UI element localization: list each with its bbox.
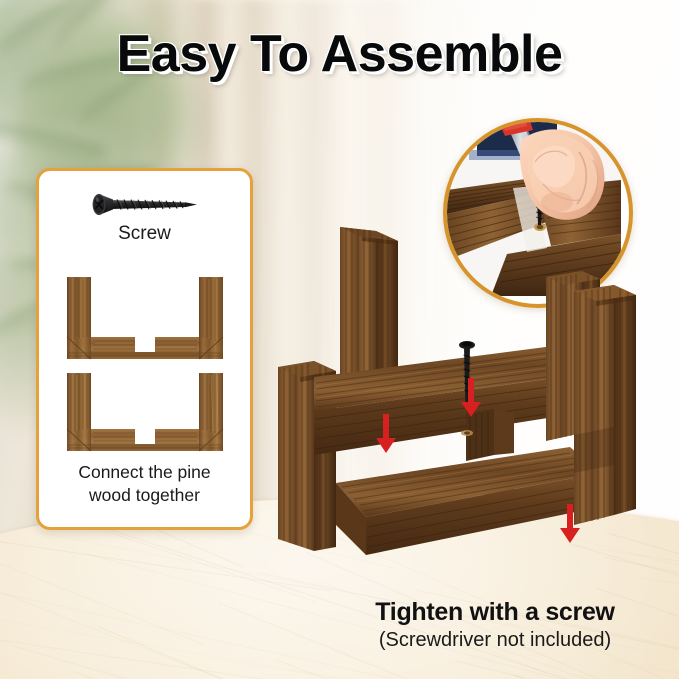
parts-card-caption: Connect the pine wood together (45, 461, 244, 507)
page-title: Easy To Assemble (0, 24, 679, 84)
caption-line-1: Connect the pine (78, 462, 210, 482)
caption-line-2: wood together (89, 485, 200, 505)
u-frame-part (61, 275, 229, 365)
infographic-canvas: Easy To Assemble (0, 0, 679, 679)
screw-label: Screw (39, 223, 250, 245)
bottom-caption-sub: (Screwdriver not included) (320, 629, 670, 652)
arrow-right-leg-down (559, 504, 581, 544)
post-right-front (574, 285, 636, 525)
u-frame-part (61, 369, 229, 459)
arrow-left-leg-down (375, 414, 397, 454)
screw-icon (39, 185, 250, 225)
parts-card: Screw (36, 168, 253, 530)
bottom-caption-main: Tighten with a screw (320, 598, 670, 627)
arrow-screw-down (460, 378, 482, 418)
